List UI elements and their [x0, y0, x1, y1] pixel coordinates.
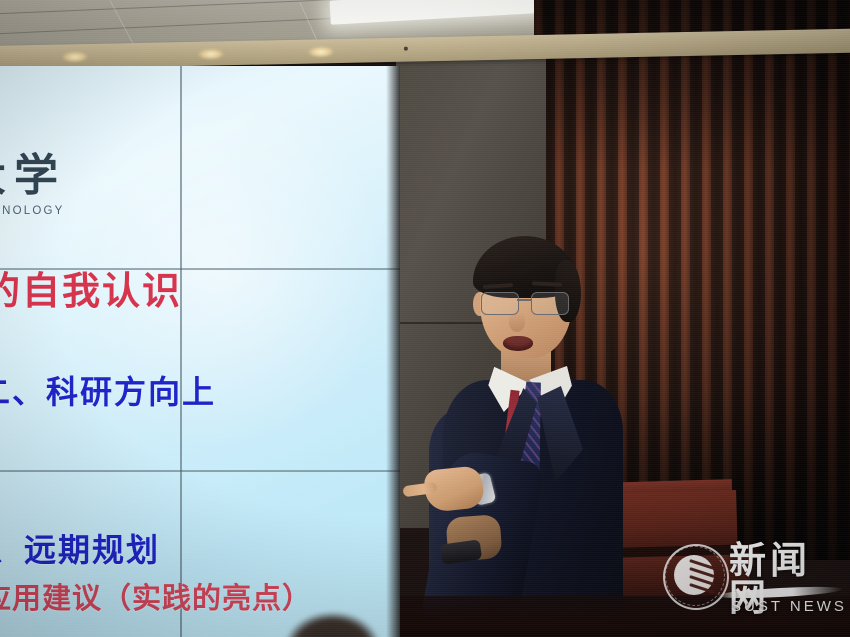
eyeglasses-icon [479, 292, 575, 314]
presentation-photo: 大学 TECHNOLOGY 的自我认识 二、科研方向上 、远期规划 应用建议（实… [0, 0, 850, 637]
speaker [405, 230, 635, 630]
slide-line-4: 应用建议（实践的亮点） [0, 584, 312, 613]
eyeglass-bridge [517, 299, 532, 301]
screen-panel-seam [0, 470, 400, 472]
speaker-nose [509, 312, 525, 332]
valance-fixture-dot [404, 47, 408, 51]
presentation-screen[interactable]: 大学 TECHNOLOGY 的自我认识 二、科研方向上 、远期规划 应用建议（实… [0, 66, 400, 637]
slide-line-2: 二、科研方向上 [0, 376, 216, 408]
downlight [62, 51, 88, 63]
screen-right-shadow [386, 66, 400, 637]
screen-panel-seam [180, 66, 182, 637]
slide-university-logo: 大学 TECHNOLOGY [0, 154, 122, 217]
slide-logo-en: TECHNOLOGY [0, 205, 122, 217]
eyeglass-lens [531, 292, 569, 315]
downlight [308, 46, 334, 58]
downlight [198, 48, 224, 60]
slide-logo-cn: 大学 [0, 154, 122, 198]
foreground-shadow [400, 596, 850, 637]
speaker-mouth-open [503, 336, 533, 351]
slide-line-3: 、远期规划 [0, 534, 160, 566]
slide-line-1: 的自我认识 [0, 272, 182, 310]
